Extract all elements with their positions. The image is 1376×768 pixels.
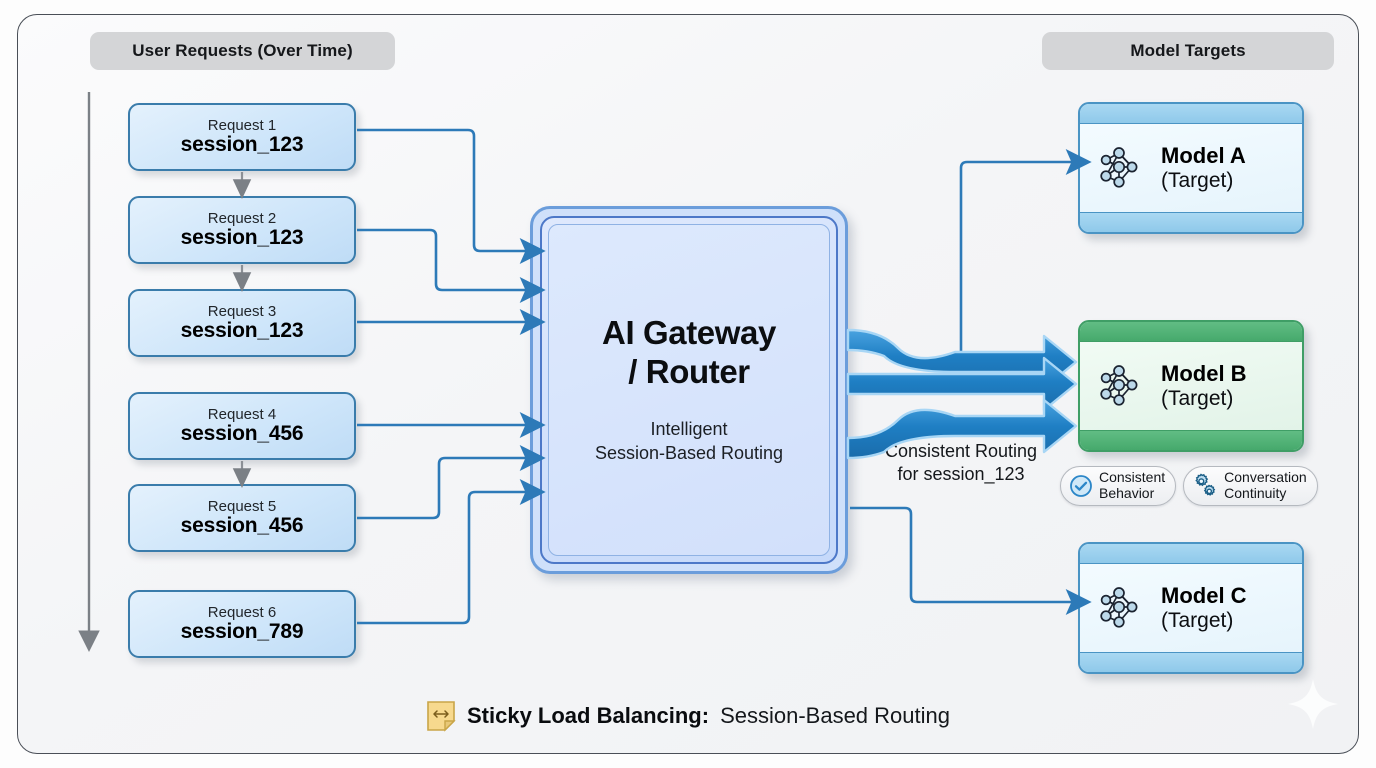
caption-rest: Session-Based Routing	[720, 703, 950, 729]
badge-conversation-continuity[interactable]: Conversation Continuity	[1183, 466, 1318, 506]
gateway-title-line1: AI Gateway	[602, 314, 776, 353]
section-header-user-requests: User Requests (Over Time)	[90, 32, 395, 70]
badge-line2: Continuity	[1224, 486, 1307, 502]
request-session-id: session_123	[181, 134, 304, 156]
ai-gateway-node[interactable]: AI Gateway / Router Intelligent Session-…	[530, 206, 848, 574]
gateway-content: AI Gateway / Router Intelligent Session-…	[548, 224, 830, 556]
request-label: Request 6	[208, 605, 276, 621]
request-label: Request 4	[208, 407, 276, 423]
neural-network-icon	[1092, 140, 1148, 196]
section-header-model-targets: Model Targets	[1042, 32, 1334, 70]
model-name: Model A	[1161, 144, 1246, 169]
card-top-bar	[1080, 322, 1302, 342]
request-card-2[interactable]: Request 2 session_123	[128, 196, 356, 264]
request-card-1[interactable]: Request 1 session_123	[128, 103, 356, 171]
badge-line1: Consistent	[1099, 470, 1165, 486]
caption-strong: Sticky Load Balancing:	[467, 703, 709, 729]
badge-text: Consistent Behavior	[1099, 470, 1165, 501]
footer-caption: Sticky Load Balancing: Session-Based Rou…	[0, 700, 1376, 732]
request-label: Request 3	[208, 304, 276, 320]
request-session-id: session_123	[181, 227, 304, 249]
request-session-id: session_123	[181, 320, 304, 342]
benefit-badges: Consistent Behavior Conversation Continu…	[1060, 466, 1318, 506]
badge-consistent-behavior[interactable]: Consistent Behavior	[1060, 466, 1176, 506]
time-axis-arrow	[74, 92, 104, 664]
card-bottom-bar	[1080, 652, 1302, 672]
route-label-line2: for session_123	[858, 463, 1064, 486]
request-label: Request 5	[208, 499, 276, 515]
model-role: (Target)	[1161, 387, 1247, 411]
model-text: Model B (Target)	[1161, 362, 1247, 410]
neural-network-icon	[1092, 358, 1148, 414]
model-role: (Target)	[1161, 169, 1246, 193]
consistent-routing-label: Consistent Routing for session_123	[858, 440, 1064, 486]
card-body: Model A (Target)	[1080, 124, 1302, 212]
model-text: Model C (Target)	[1161, 584, 1247, 632]
diagram-canvas: User Requests (Over Time) Model Targets …	[0, 0, 1376, 768]
gateway-subtitle-line1: Intelligent	[595, 418, 783, 442]
model-target-card-c[interactable]: Model C (Target)	[1078, 542, 1304, 674]
neural-network-icon	[1092, 580, 1148, 636]
gateway-title: AI Gateway / Router	[602, 314, 776, 392]
card-top-bar	[1080, 544, 1302, 564]
request-session-id: session_456	[181, 423, 304, 445]
request-session-id: session_789	[181, 621, 304, 643]
request-card-6[interactable]: Request 6 session_789	[128, 590, 356, 658]
model-name: Model C	[1161, 584, 1247, 609]
gateway-inner-border: AI Gateway / Router Intelligent Session-…	[540, 216, 838, 564]
check-circle-icon	[1069, 474, 1093, 498]
gateway-subtitle-line2: Session-Based Routing	[595, 442, 783, 466]
route-label-line1: Consistent Routing	[858, 440, 1064, 463]
card-top-bar	[1080, 104, 1302, 124]
gateway-title-line2: / Router	[602, 353, 776, 392]
card-bottom-bar	[1080, 212, 1302, 232]
request-label: Request 1	[208, 118, 276, 134]
request-label: Request 2	[208, 211, 276, 227]
card-bottom-bar	[1080, 430, 1302, 450]
request-card-5[interactable]: Request 5 session_456	[128, 484, 356, 552]
badge-line1: Conversation	[1224, 470, 1307, 486]
request-card-3[interactable]: Request 3 session_123	[128, 289, 356, 357]
request-session-id: session_456	[181, 515, 304, 537]
gateway-subtitle: Intelligent Session-Based Routing	[595, 418, 783, 466]
model-role: (Target)	[1161, 609, 1247, 633]
card-body: Model B (Target)	[1080, 342, 1302, 430]
model-target-card-a[interactable]: Model A (Target)	[1078, 102, 1304, 234]
sticky-note-arrow-icon	[426, 700, 456, 732]
badge-text: Conversation Continuity	[1224, 470, 1307, 501]
request-card-4[interactable]: Request 4 session_456	[128, 392, 356, 460]
badge-line2: Behavior	[1099, 486, 1165, 502]
gears-icon	[1192, 473, 1218, 499]
model-text: Model A (Target)	[1161, 144, 1246, 192]
model-target-card-b[interactable]: Model B (Target)	[1078, 320, 1304, 452]
model-name: Model B	[1161, 362, 1247, 387]
card-body: Model C (Target)	[1080, 564, 1302, 652]
